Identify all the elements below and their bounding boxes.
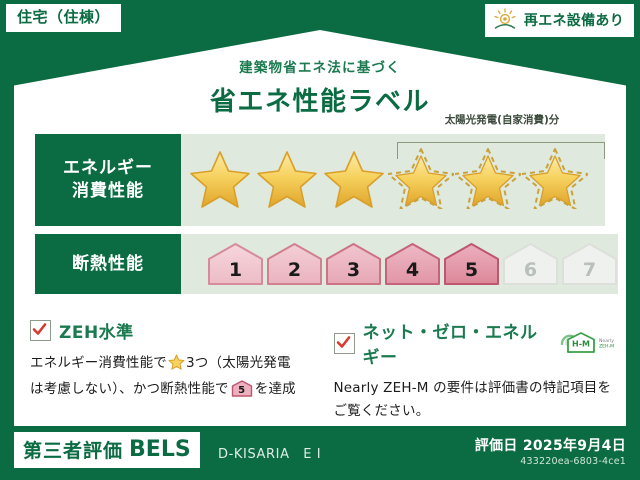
evaluation-date-label: 評価日 (475, 438, 518, 454)
insulation-house-label-1: 1 (229, 259, 242, 286)
insulation-house-label-5: 5 (465, 259, 478, 286)
zeh-body-part2: は考慮しない）、かつ断熱性能で (30, 381, 229, 397)
insulation-level-scale: 1 2 (207, 242, 618, 286)
building-name: D-KISARIA E I (218, 443, 321, 462)
checkmark-icon-zeh (30, 320, 51, 341)
net-zero-energy-body: Nearly ZEH-M の要件は評価書の特記項目をご覧ください。 (334, 377, 616, 423)
insulation-house-2: 2 (266, 242, 323, 286)
zeh-body-starcount: 3つ（太陽光発電 (186, 355, 291, 371)
performance-rows: エネルギー 消費性能 太陽光発電(自家消費)分 (35, 134, 605, 302)
renewable-equipment-badge: 再エネ設備あり (485, 4, 634, 37)
energy-performance-body: 太陽光発電(自家消費)分 (181, 134, 605, 226)
zeh-standard-body: エネルギー消費性能で3つ（太陽光発電は考慮しない）、かつ断熱性能で5を達成 (30, 352, 312, 401)
zeh-body-part3: を達成 (255, 381, 296, 397)
svg-text:H-M: H-M (572, 340, 590, 349)
building-type-tag: 住宅（住棟） (6, 4, 121, 32)
footer-bar: 第三者評価 BELS D-KISARIA E I 評価日 2025年9月4日 4… (0, 426, 640, 480)
title-subtitle: 建築物省エネ法に基づく (0, 56, 640, 76)
star-inline-icon (168, 354, 185, 378)
svg-text:ZEH-M: ZEH-M (599, 344, 614, 350)
zeh-standard-title: ZEH水準 (59, 318, 134, 343)
solar-bracket (397, 142, 605, 159)
insulation-performance-body: 1 2 (181, 234, 618, 294)
net-zero-energy-header: ネット・ゼロ・エネルギー H-M Nearly ZEH-M (334, 318, 616, 368)
energy-performance-row: エネルギー 消費性能 太陽光発電(自家消費)分 (35, 134, 605, 226)
net-zero-energy-column: ネット・ゼロ・エネルギー H-M Nearly ZEH-M Nearly ZEH… (334, 318, 616, 423)
insulation-performance-row: 断熱性能 1 (35, 234, 605, 294)
energy-label-line2: 消費性能 (63, 180, 153, 203)
insulation-house-label-6: 6 (524, 259, 537, 286)
info-section: ZEH水準 エネルギー消費性能で3つ（太陽光発電は考慮しない）、かつ断熱性能で5… (30, 318, 615, 423)
energy-performance-label: エネルギー 消費性能 (35, 134, 181, 226)
solar-self-consumption-note: 太陽光発電(自家消費)分 (397, 112, 607, 127)
zeh-standard-column: ZEH水準 エネルギー消費性能で3つ（太陽光発電は考慮しない）、かつ断熱性能で5… (30, 318, 312, 423)
checkmark-icon-nze (334, 333, 355, 354)
insulation-house-4: 4 (384, 242, 441, 286)
bels-logo-text: BELS (129, 437, 191, 462)
net-zero-energy-title: ネット・ゼロ・エネルギー (363, 318, 548, 368)
title-block: 建築物省エネ法に基づく 省エネ性能ラベル (0, 56, 640, 118)
sun-solar-icon (492, 8, 518, 32)
insulation-house-label-2: 2 (288, 259, 301, 286)
insulation-performance-label: 断熱性能 (35, 234, 181, 294)
insulation-house-label-4: 4 (406, 259, 419, 286)
renewable-badge-label: 再エネ設備あり (524, 10, 624, 30)
insulation-house-7: 7 (561, 242, 618, 286)
evaluation-id: 433220ea-6803-4ce1 (520, 456, 626, 467)
energy-label-line1: エネルギー (63, 157, 153, 180)
zeh-standard-header: ZEH水準 (30, 318, 312, 343)
insulation-house-6: 6 (502, 242, 559, 286)
insulation-house-label-3: 3 (347, 259, 360, 286)
bels-jp-label: 第三者評価 (23, 436, 123, 463)
bels-third-party-tag: 第三者評価 BELS (14, 432, 200, 468)
building-type-label: 住宅（住棟） (17, 8, 110, 26)
insulation-house-3: 3 (325, 242, 382, 286)
evaluation-date: 評価日 2025年9月4日 (475, 435, 626, 455)
house-inline-icon: 5 (231, 380, 253, 397)
star-filled-3 (321, 147, 387, 209)
insulation-house-5: 5 (443, 242, 500, 286)
svg-text:Nearly: Nearly (599, 338, 614, 344)
zeh-m-logo-icon: H-M Nearly ZEH-M (559, 330, 615, 356)
house-inline-label: 5 (231, 382, 253, 399)
star-filled-1 (187, 147, 253, 209)
energy-performance-label: 住宅（住棟） 再エネ設備あり 建築物省エネ法に基づく 省エネ性能ラベル (0, 0, 640, 480)
zeh-body-part1: エネルギー消費性能で (30, 355, 167, 371)
evaluation-date-value: 2025年9月4日 (523, 438, 626, 454)
insulation-house-label-7: 7 (583, 259, 596, 286)
insulation-house-1: 1 (207, 242, 264, 286)
star-filled-2 (254, 147, 320, 209)
